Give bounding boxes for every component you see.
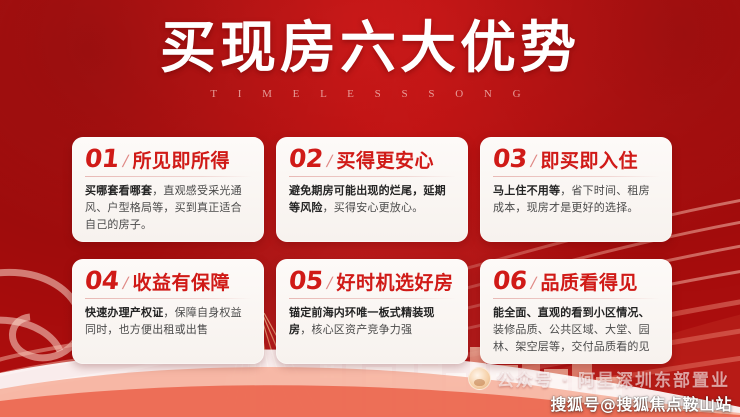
separator-slash-icon: /	[528, 152, 538, 172]
card-body-bold: 买哪套看哪套	[85, 184, 152, 197]
publisher-watermark: 搜狐号@搜狐焦点鞍山站	[550, 391, 732, 415]
card-body-rest: 装修品质、公共区域、大堂、园林、架空层等，交付品质看的见	[493, 323, 650, 353]
card-divider	[85, 298, 252, 299]
advantage-card-03[interactable]: 03 / 即买即入住 马上住不用等，省下时间、租房成本，现房才是更好的选择。	[480, 137, 672, 242]
card-body: 买哪套看哪套，直观感受采光通风、户型格局等，买到真正适合自己的房子。	[85, 182, 252, 233]
card-title: 品质看得见	[541, 272, 639, 294]
advantage-card-05[interactable]: 05 / 好时机选好房 锚定前海内环唯一板式精装现房，核心区资产竞争力强	[276, 259, 468, 364]
card-number: 04	[84, 268, 120, 293]
card-number: 01	[84, 146, 120, 171]
card-body-bold: 能全面、直观的看到小区情况、	[493, 306, 650, 319]
card-title: 即买即入住	[541, 150, 639, 172]
card-header: 01 / 所见即所得	[85, 146, 252, 172]
account-watermark-label: 公众号 · 阿星深圳东部置业	[497, 366, 730, 391]
card-body: 能全面、直观的看到小区情况、装修品质、公共区域、大堂、园林、架空层等，交付品质看…	[493, 304, 660, 355]
card-number: 05	[288, 268, 324, 293]
card-divider	[85, 176, 252, 177]
card-header: 02 / 买得更安心	[289, 146, 456, 172]
separator-slash-icon: /	[324, 152, 334, 172]
advantage-card-02[interactable]: 02 / 买得更安心 避免期房可能出现的烂尾，延期等风险，买得安心更放心。	[276, 137, 468, 242]
card-header: 03 / 即买即入住	[493, 146, 660, 172]
card-body-rest: ，买得安心更放心。	[323, 201, 424, 214]
poster-root: 买现房六大优势 T I M E L E S S S O N G 01 / 所见即…	[0, 0, 740, 417]
card-divider	[493, 176, 660, 177]
card-header: 05 / 好时机选好房	[289, 268, 456, 294]
card-number: 03	[492, 146, 528, 171]
card-number: 06	[492, 268, 528, 293]
advantage-card-04[interactable]: 04 / 收益有保障 快速办理产权证，保障自身权益同时，也方便出租或出售	[72, 259, 264, 364]
card-body-rest: ，核心区资产竞争力强	[300, 323, 412, 336]
card-number: 02	[288, 146, 324, 171]
card-body: 锚定前海内环唯一板式精装现房，核心区资产竞争力强	[289, 304, 456, 338]
card-header: 06 / 品质看得见	[493, 268, 660, 294]
advantage-card-06[interactable]: 06 / 品质看得见 能全面、直观的看到小区情况、装修品质、公共区域、大堂、园林…	[480, 259, 672, 364]
card-title: 买得更安心	[337, 150, 435, 172]
poster-header: 买现房六大优势 T I M E L E S S S O N G	[0, 18, 740, 100]
separator-slash-icon: /	[120, 152, 130, 172]
card-divider	[493, 298, 660, 299]
card-title: 收益有保障	[133, 272, 231, 294]
advantage-card-grid: 01 / 所见即所得 买哪套看哪套，直观感受采光通风、户型格局等，买到真正适合自…	[72, 137, 672, 364]
card-body: 避免期房可能出现的烂尾，延期等风险，买得安心更放心。	[289, 182, 456, 216]
account-watermark: 公众号 · 阿星深圳东部置业	[468, 366, 730, 391]
advantage-card-01[interactable]: 01 / 所见即所得 买哪套看哪套，直观感受采光通风、户型格局等，买到真正适合自…	[72, 137, 264, 242]
separator-slash-icon: /	[528, 274, 538, 294]
card-divider	[289, 298, 456, 299]
card-header: 04 / 收益有保障	[85, 268, 252, 294]
card-body-bold: 马上住不用等	[493, 184, 560, 197]
avatar-icon	[468, 367, 491, 390]
separator-slash-icon: /	[324, 274, 334, 294]
card-body: 快速办理产权证，保障自身权益同时，也方便出租或出售	[85, 304, 252, 338]
card-divider	[289, 176, 456, 177]
separator-slash-icon: /	[120, 274, 130, 294]
card-title: 所见即所得	[133, 150, 231, 172]
card-title: 好时机选好房	[337, 272, 454, 294]
card-body: 马上住不用等，省下时间、租房成本，现房才是更好的选择。	[493, 182, 660, 216]
card-body-bold: 快速办理产权证	[85, 306, 163, 319]
page-subtitle: T I M E L E S S S O N G	[0, 88, 740, 100]
page-title: 买现房六大优势	[0, 18, 740, 80]
